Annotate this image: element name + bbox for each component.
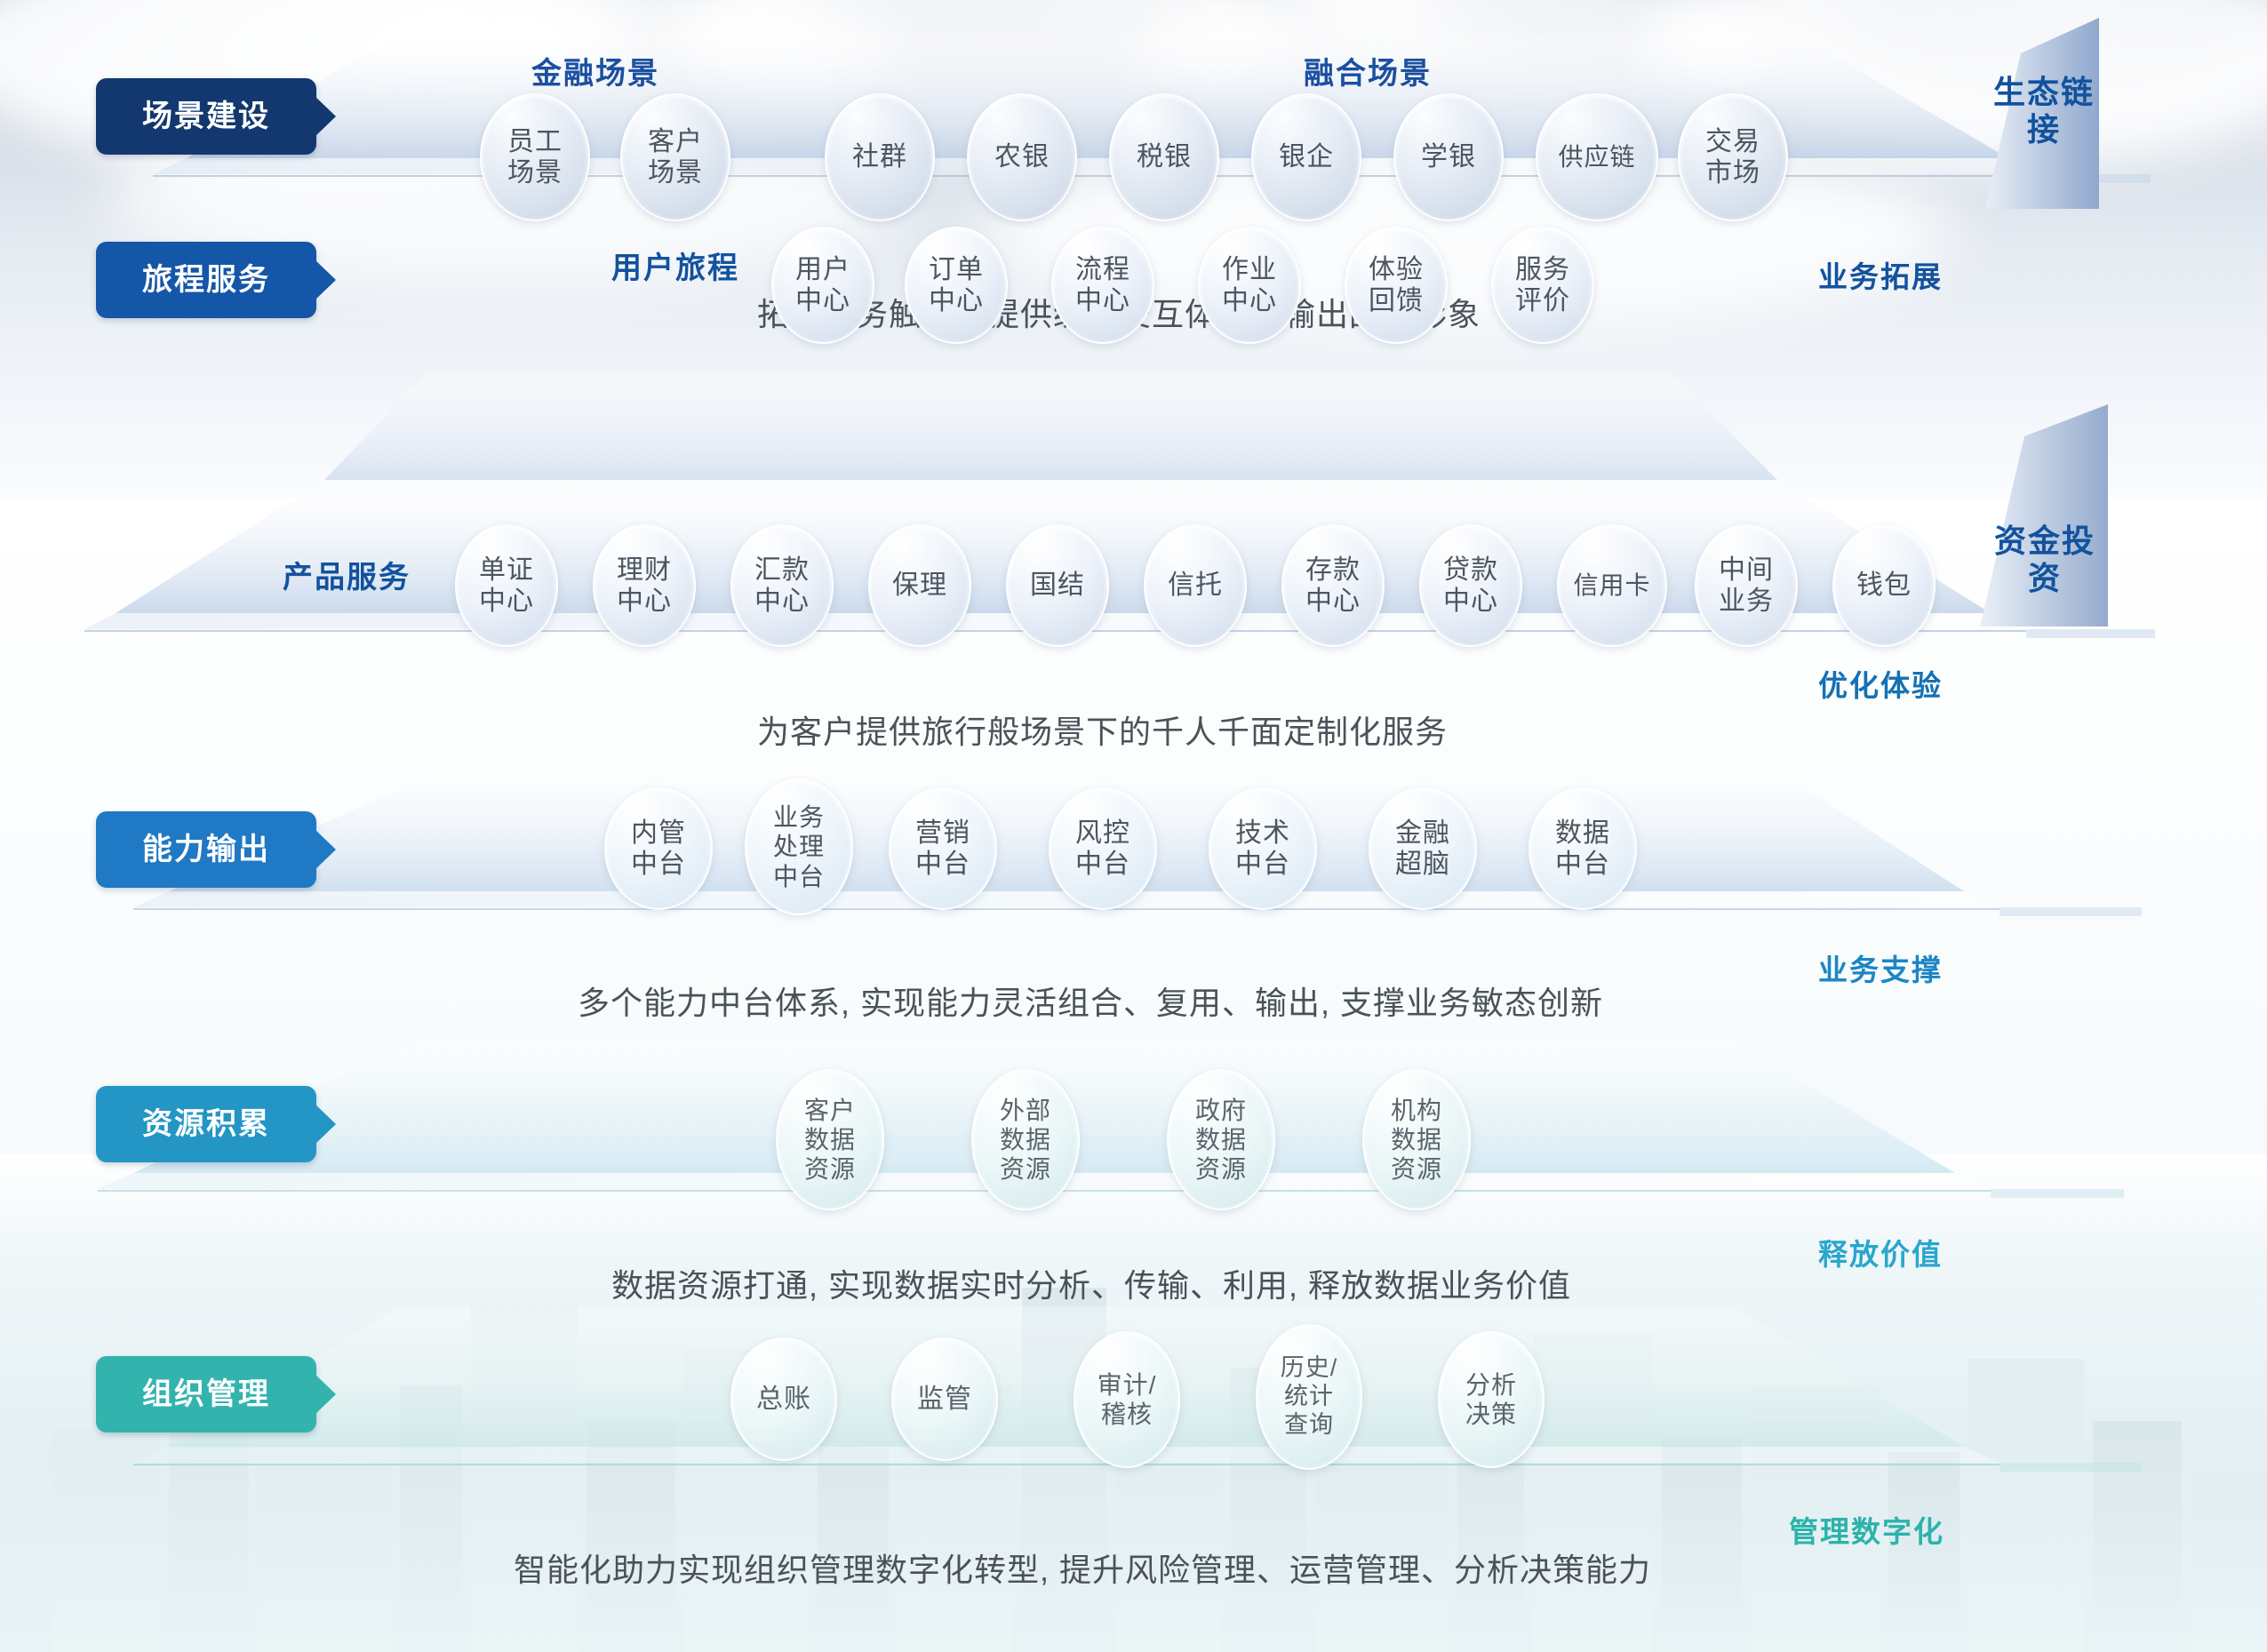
bubble-employee-scenario[interactable]: 员工场景 [480,93,590,221]
layer-tag-label: 能力输出 [142,834,270,865]
bubble-supply-chain[interactable]: 供应链 [1536,93,1658,221]
layer-description-5: 智能化助力实现组织管理数字化转型, 提升风险管理、运营管理、分析决策能力 [514,1544,1651,1591]
bubble-deposit-center[interactable]: 存款中心 [1281,524,1385,647]
bubble-loan-center[interactable]: 贷款中心 [1419,524,1522,647]
bubble-data-midplatform[interactable]: 数据中台 [1529,787,1637,910]
group-heading-integrated-scenarios: 融合场景 [1304,49,1432,92]
bubble-order-center[interactable]: 订单中心 [905,227,1008,344]
bubble-wealth-center[interactable]: 理财中心 [593,524,696,647]
group-heading-product-service: 产品服务 [283,553,411,596]
edge-label-management-digitalization: 管理数字化 [1789,1508,1944,1551]
edge-label-optimize-experience: 优化体验 [1818,662,1943,705]
layer-description-3: 多个能力中台体系, 实现能力灵活组合、复用、输出, 支撑业务敏态创新 [578,978,1603,1024]
layer-tag-label: 组织管理 [142,1379,270,1409]
side-callout-ecosystem-link: 生态链接 [1991,40,2097,182]
bubble-agri-bank[interactable]: 农银 [967,93,1077,221]
bubble-general-ledger[interactable]: 总账 [730,1337,837,1461]
bubble-remittance-center[interactable]: 汇款中心 [730,524,834,647]
layer-2-trapezoid [80,355,2159,711]
layer-tag-resource-accumulation[interactable]: 资源积累 [96,1086,316,1162]
bubble-school-bank[interactable]: 学银 [1393,93,1504,221]
layer-tag-label: 资源积累 [142,1109,270,1139]
bubble-trading-market[interactable]: 交易市场 [1678,93,1788,221]
group-heading-user-journey: 用户旅程 [611,243,739,287]
bubble-process-center[interactable]: 流程中心 [1051,227,1154,344]
layer-tag-journey-service[interactable]: 旅程服务 [96,242,316,318]
bubble-operation-center[interactable]: 作业中心 [1198,227,1301,344]
bubble-customer-scenario[interactable]: 客户场景 [620,93,730,221]
layer-tag-capability-output[interactable]: 能力输出 [96,811,316,888]
edge-label-business-support: 业务支撑 [1818,946,1943,989]
edge-label-release-value: 释放价值 [1818,1231,1943,1273]
bubble-document-center[interactable]: 单证中心 [455,524,558,647]
layer-tag-scene-construction[interactable]: 场景建设 [96,78,316,155]
bubble-trust[interactable]: 信托 [1144,524,1247,647]
bubble-credit-card[interactable]: 信用卡 [1557,524,1667,647]
bubble-factoring[interactable]: 保理 [868,524,971,647]
layer-tag-organization-management[interactable]: 组织管理 [96,1356,316,1433]
bubble-tech-midplatform[interactable]: 技术中台 [1209,787,1317,910]
bubble-user-center[interactable]: 用户中心 [771,227,874,344]
bubble-service-rating[interactable]: 服务评价 [1491,227,1594,344]
bubble-government-data-resource[interactable]: 政府数据资源 [1167,1069,1275,1210]
bubble-audit-inspection[interactable]: 审计/稽核 [1074,1331,1180,1468]
bubble-bank-enterprise[interactable]: 银企 [1251,93,1361,221]
bubble-intermediary-business[interactable]: 中间业务 [1695,524,1798,647]
group-heading-financial-scenarios: 金融场景 [531,49,659,92]
bubble-community[interactable]: 社群 [825,93,935,221]
bubble-analysis-decision[interactable]: 分析决策 [1438,1331,1545,1468]
side-callout-capital-investment: 资金投资 [1987,507,2103,613]
bubble-risk-midplatform[interactable]: 风控中台 [1049,787,1157,910]
bubble-marketing-midplatform[interactable]: 营销中台 [889,787,997,910]
layer-tag-label: 旅程服务 [142,265,270,295]
edge-label-business-expansion: 业务拓展 [1818,253,1943,296]
bubble-intl-settlement[interactable]: 国结 [1006,524,1109,647]
bubble-external-data-resource[interactable]: 外部数据资源 [971,1069,1080,1210]
bubble-customer-data-resource[interactable]: 客户数据资源 [776,1069,884,1210]
layer-4-trapezoid [80,1031,2159,1253]
bubble-financial-brain[interactable]: 金融超脑 [1369,787,1477,910]
bubble-experience-feedback[interactable]: 体验回馈 [1345,227,1448,344]
bubble-wallet[interactable]: 钱包 [1832,524,1936,647]
bubble-supervision[interactable]: 监管 [891,1337,998,1461]
bubble-institution-data-resource[interactable]: 机构数据资源 [1362,1069,1471,1210]
layer-tag-label: 场景建设 [142,101,270,132]
bubble-internal-mgmt-midplatform[interactable]: 内管中台 [604,787,713,910]
bubble-history-statistics-query[interactable]: 历史/统计查询 [1256,1324,1362,1470]
bubble-tax-bank[interactable]: 税银 [1109,93,1219,221]
layer-description-2: 为客户提供旅行般场景下的千人千面定制化服务 [757,706,1448,753]
bubble-business-processing-midplatform[interactable]: 业务处理中台 [745,778,853,915]
